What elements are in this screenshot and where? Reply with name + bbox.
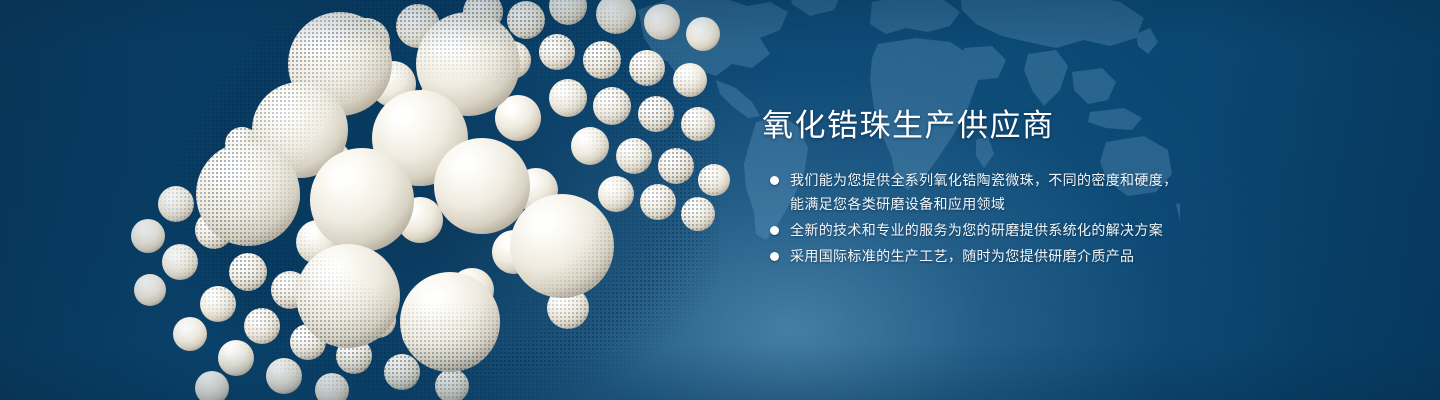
bullet-dot-icon (770, 226, 779, 235)
bullet-dot-icon (770, 176, 779, 185)
banner-headline: 氧化锆珠生产供应商 (762, 106, 1382, 146)
bullet-item-2-line-1: 全新的技术和专业的服务为您的研磨提供系统化的解决方案 (790, 219, 1382, 243)
bullet-item-2: 全新的技术和专业的服务为您的研磨提供系统化的解决方案 (762, 219, 1382, 243)
bullet-item-1: 我们能为您提供全系列氧化锆陶瓷微珠，不同的密度和硬度， 能满足您各类研磨设备和应… (762, 169, 1382, 217)
bullet-item-3: 采用国际标准的生产工艺，随时为您提供研磨介质产品 (762, 245, 1382, 269)
bullet-item-1-line-2: 能满足您各类研磨设备和应用领域 (790, 193, 1382, 217)
banner-bullet-list: 我们能为您提供全系列氧化锆陶瓷微珠，不同的密度和硬度， 能满足您各类研磨设备和应… (762, 169, 1382, 269)
hero-banner: 氧化锆珠生产供应商 我们能为您提供全系列氧化锆陶瓷微珠，不同的密度和硬度， 能满… (0, 0, 1440, 400)
bullet-dot-icon (770, 252, 779, 261)
bullet-item-1-line-1: 我们能为您提供全系列氧化锆陶瓷微珠，不同的密度和硬度， (790, 169, 1382, 193)
bullet-item-3-line-1: 采用国际标准的生产工艺，随时为您提供研磨介质产品 (790, 245, 1382, 269)
banner-copy: 氧化锆珠生产供应商 我们能为您提供全系列氧化锆陶瓷微珠，不同的密度和硬度， 能满… (762, 106, 1382, 271)
